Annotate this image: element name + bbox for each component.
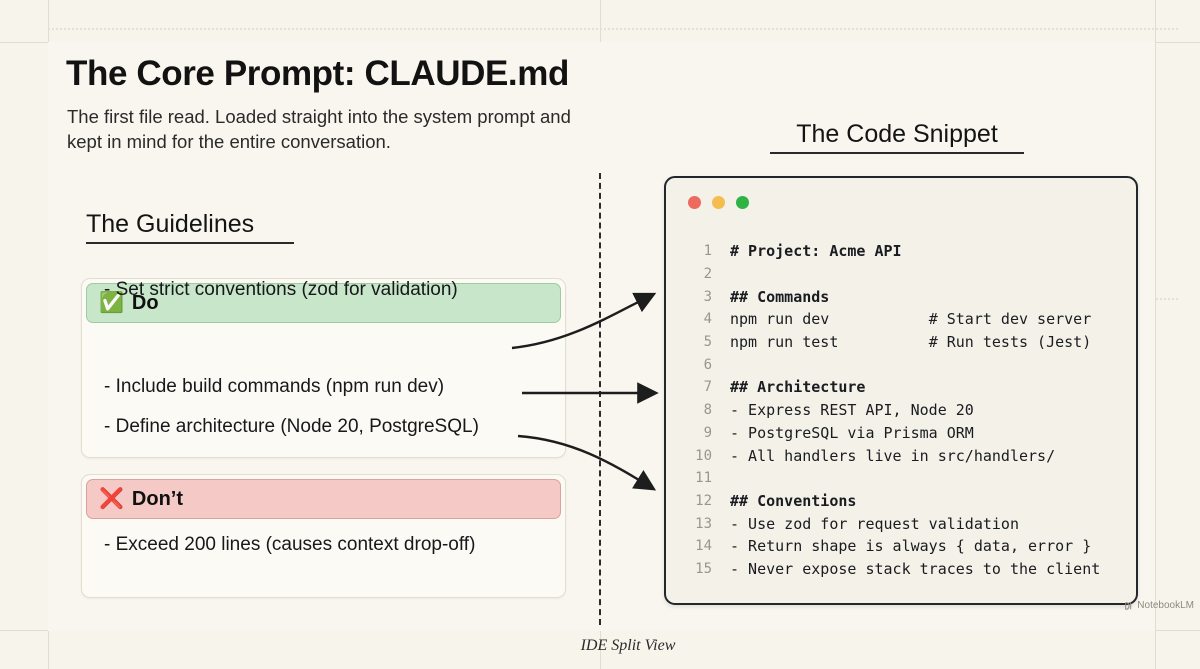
line-number: 12 [680, 493, 712, 509]
line-number: 7 [680, 379, 712, 395]
code-gap [838, 333, 928, 351]
code-snippet-heading: The Code Snippet [770, 120, 1024, 157]
page-title: The Core Prompt: CLAUDE.md [66, 54, 569, 94]
code-editor-lines: 1# Project: Acme API23## Commands4npm ru… [680, 240, 1132, 580]
code-line: 14- Return shape is always { data, error… [680, 535, 1132, 558]
notebooklm-logo-icon [1124, 601, 1134, 611]
code-line: 3## Commands [680, 285, 1132, 308]
line-number: 9 [680, 425, 712, 441]
code-line: 8- Express REST API, Node 20 [680, 399, 1132, 422]
dont-banner: ❌ Don’t [86, 479, 561, 519]
line-number: 2 [680, 266, 712, 282]
code-snippet-panel: 1# Project: Acme API23## Commands4npm ru… [664, 176, 1138, 605]
dont-list-item: - Exceed 200 lines (causes context drop-… [104, 534, 551, 556]
code-line: 4npm run dev # Start dev server [680, 308, 1132, 331]
line-number: 10 [680, 448, 712, 464]
code-line: 9- PostgreSQL via Prisma ORM [680, 422, 1132, 445]
line-number: 14 [680, 538, 712, 554]
do-list-item: - Include build commands (npm run dev) [104, 376, 551, 398]
line-number: 13 [680, 516, 712, 532]
split-view-divider [599, 173, 601, 625]
code-text: - Express REST API, Node 20 [730, 401, 974, 419]
guidelines-heading: The Guidelines [86, 210, 294, 247]
grid-line-vertical [1155, 0, 1156, 669]
code-line: 7## Architecture [680, 376, 1132, 399]
line-number: 11 [680, 470, 712, 486]
code-line: 13- Use zod for request validation [680, 512, 1132, 535]
page-subtitle: The first file read. Loaded straight int… [67, 104, 587, 154]
line-number: 5 [680, 334, 712, 350]
code-text: - Never expose stack traces to the clien… [730, 560, 1100, 578]
cross-mark-icon: ❌ [99, 489, 124, 509]
code-line: 11 [680, 467, 1132, 490]
line-number: 8 [680, 402, 712, 418]
code-comment: # Start dev server [929, 310, 1092, 328]
dont-card: ❌ Don’t - Exceed 200 lines (causes conte… [81, 474, 566, 598]
window-traffic-lights [688, 196, 749, 209]
code-comment: # Run tests (Jest) [929, 333, 1092, 351]
line-number: 6 [680, 357, 712, 373]
line-number: 3 [680, 289, 712, 305]
notebooklm-watermark: NotebookLM [1124, 600, 1194, 611]
code-line: 5npm run test # Run tests (Jest) [680, 331, 1132, 354]
code-gap [829, 310, 928, 328]
code-text: - Return shape is always { data, error } [730, 537, 1091, 555]
code-line: 12## Conventions [680, 490, 1132, 513]
code-text: ## Architecture [730, 378, 865, 396]
do-list-item: - Set strict conventions (zod for valida… [104, 279, 551, 301]
do-list-item: - Define architecture (Node 20, PostgreS… [104, 416, 551, 438]
code-line: 15- Never expose stack traces to the cli… [680, 558, 1132, 581]
code-line: 6 [680, 353, 1132, 376]
code-text: - PostgreSQL via Prisma ORM [730, 424, 974, 442]
maximize-icon[interactable] [736, 196, 749, 209]
code-text: - All handlers live in src/handlers/ [730, 447, 1055, 465]
code-text: npm run dev [730, 310, 829, 328]
ide-split-view-label: IDE Split View [538, 637, 718, 655]
minimize-icon[interactable] [712, 196, 725, 209]
slide-canvas: The Core Prompt: CLAUDE.md The first fil… [0, 0, 1200, 669]
code-text: ## Commands [730, 288, 829, 306]
do-card: ✅ Do - Include build commands (npm run d… [81, 278, 566, 458]
grid-line-dotted [48, 28, 1178, 30]
code-text: npm run test [730, 333, 838, 351]
slide-body: The Core Prompt: CLAUDE.md The first fil… [48, 42, 1155, 631]
line-number: 15 [680, 561, 712, 577]
code-text: # Project: Acme API [730, 242, 902, 260]
line-number: 1 [680, 243, 712, 259]
code-line: 2 [680, 263, 1132, 286]
close-icon[interactable] [688, 196, 701, 209]
watermark-label: NotebookLM [1137, 600, 1194, 611]
dont-label: Don’t [132, 488, 183, 511]
code-text: ## Conventions [730, 492, 856, 510]
line-number: 4 [680, 311, 712, 327]
code-line: 1# Project: Acme API [680, 240, 1132, 263]
code-text: - Use zod for request validation [730, 515, 1019, 533]
code-line: 10- All handlers live in src/handlers/ [680, 444, 1132, 467]
